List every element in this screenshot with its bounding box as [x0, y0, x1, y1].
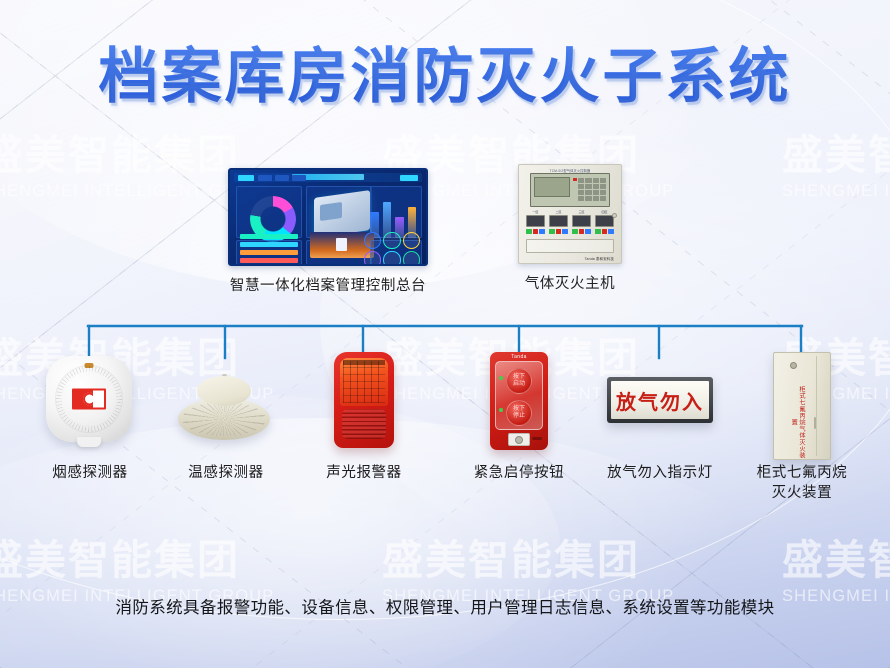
console-tab [275, 175, 289, 181]
panel-key[interactable] [585, 178, 591, 183]
gas-control-panel-item[interactable]: TCM-0/2型气体灭火控制器 一区二区三区四区 Tanda 泰和安科技 气体灭… [470, 164, 670, 293]
device-smoke-detector[interactable]: 烟感探测器 [46, 352, 134, 484]
panel-zone-buttons [526, 229, 545, 234]
panel-key[interactable] [578, 178, 584, 183]
start-button[interactable]: 按下 启动 [506, 368, 532, 394]
console-status-icon [364, 232, 381, 249]
panel-zone-display [572, 215, 591, 227]
watermark-cn: 盛美智能集团 [782, 540, 890, 581]
panel-zone-display [595, 215, 614, 227]
cabinet-extinguisher-image: 柜式七氟丙烷气体灭火装置 [773, 352, 831, 460]
panel-key[interactable] [585, 184, 591, 189]
console-status-icon [403, 232, 420, 249]
label-white-area [93, 391, 104, 408]
panel-key[interactable] [578, 190, 584, 195]
panel-zone-button[interactable] [562, 229, 568, 234]
panel-key[interactable] [600, 178, 606, 183]
panel-zone[interactable]: 一区 [526, 211, 545, 241]
panel-key[interactable] [593, 178, 599, 183]
sign-face: 放气勿入 [611, 381, 709, 419]
status-led [573, 178, 577, 181]
device-sound-light-alarm[interactable]: 声光报警器 [320, 352, 408, 484]
detector-label [72, 389, 106, 410]
watermark-cn: 盛美智能集团 [382, 540, 674, 581]
console-wave [240, 234, 298, 239]
console-wave [240, 250, 298, 255]
panel-zone-label: 一区 [526, 211, 545, 214]
console-status-icon [364, 251, 381, 266]
lock-icon [515, 436, 523, 444]
panel-zone-label: 四区 [595, 211, 614, 214]
device-label: 烟感探测器 [46, 464, 134, 484]
panel-zone-button[interactable] [526, 229, 532, 234]
footer-note-wrapper: 消防系统具备报警功能、设备信息、权限管理、用户管理日志信息、系统设置等功能模块 [0, 593, 890, 624]
status-led [499, 376, 503, 380]
console-tab [292, 175, 306, 181]
panel-key[interactable] [593, 184, 599, 189]
page-title: 档案库房消防灭火子系统 [99, 44, 792, 110]
panel-zone-buttons [595, 229, 614, 234]
gas-panel-caption: 气体灭火主机 [470, 272, 670, 293]
key-lock[interactable] [508, 433, 530, 446]
panel-key[interactable] [585, 190, 591, 195]
detector-mount-tab [77, 437, 101, 447]
console-tab [400, 175, 418, 181]
emergency-button-image: Tanda 按下 启动 按下 停止 [490, 352, 548, 450]
console-status-icon [383, 251, 400, 266]
console-status-icon [403, 251, 420, 266]
panel-zone-button[interactable] [602, 229, 608, 234]
device-emergency-button[interactable]: Tanda 按下 启动 按下 停止 紧急启停按钮 [470, 352, 568, 484]
device-brand: Tanda [490, 354, 548, 360]
start-label-2: 启动 [513, 381, 525, 388]
panel-zone-button[interactable] [595, 229, 601, 234]
device-cabinet-extinguisher[interactable]: 柜式七氟丙烷气体灭火装置 柜式七氟丙烷灭火装置 [752, 352, 852, 503]
console-3d-model [314, 190, 370, 238]
panel-zone-buttons [549, 229, 568, 234]
detector-ribs [182, 402, 266, 436]
panel-key[interactable] [585, 196, 591, 201]
alarm-strobe-lens [340, 358, 388, 406]
control-panel-keypad[interactable] [578, 178, 606, 204]
panel-zone-button[interactable] [533, 229, 539, 234]
console-caption: 智慧一体化档案管理控制总台 [178, 274, 478, 295]
panel-zone-buttons [572, 229, 591, 234]
panel-zone-button[interactable] [549, 229, 555, 234]
sign-text: 放气勿入 [616, 386, 704, 415]
console-status-icon [383, 232, 400, 249]
panel-key[interactable] [593, 190, 599, 195]
console-tab [238, 175, 254, 181]
panel-zone-display [526, 215, 545, 227]
console-screen [230, 170, 426, 264]
panel-knob[interactable] [612, 213, 617, 218]
stop-label-2: 停止 [513, 413, 525, 420]
panel-key[interactable] [578, 184, 584, 189]
device-label: 柜式七氟丙烷灭火装置 [752, 464, 852, 503]
console-monitor-image [228, 168, 428, 266]
console-monitor-item[interactable]: 智慧一体化档案管理控制总台 [178, 168, 478, 295]
device-label: 放气勿入指示灯 [600, 464, 720, 484]
watermark-cn: 盛美智能集团 [0, 540, 274, 581]
panel-zone-button[interactable] [556, 229, 562, 234]
control-panel-zones: 一区二区三区四区 [526, 211, 614, 241]
console-wave [240, 258, 298, 263]
smoke-detector-image [46, 356, 132, 442]
control-panel-brand: Tanda 泰和安科技 [585, 256, 614, 261]
cabinet-handle [814, 417, 816, 429]
detector-cap [197, 376, 251, 406]
device-heat-detector[interactable]: 温感探测器 [178, 352, 274, 484]
panel-key[interactable] [578, 196, 584, 201]
panel-zone-display [549, 215, 568, 227]
panel-key[interactable] [600, 190, 606, 195]
console-wave [240, 242, 298, 247]
panel-zone-button[interactable] [585, 229, 591, 234]
panel-zone[interactable]: 三区 [572, 211, 591, 241]
console-wave-chart [240, 234, 298, 258]
stop-button[interactable]: 按下 停止 [506, 400, 532, 426]
page-title-wrapper: 档案库房消防灭火子系统 [0, 44, 890, 110]
device-label: 声光报警器 [320, 464, 408, 484]
control-panel-display [534, 177, 570, 197]
panel-key[interactable] [593, 196, 599, 201]
sound-light-alarm-image [334, 352, 394, 448]
device-label: 紧急启停按钮 [470, 464, 568, 484]
panel-key[interactable] [600, 184, 606, 189]
start-label-1: 按下 [513, 374, 525, 381]
top-equipment-row: 智慧一体化档案管理控制总台 TCM-0/2型气体灭火控制器 一区二区三区四区 T… [0, 168, 890, 298]
gas-control-panel-image: TCM-0/2型气体灭火控制器 一区二区三区四区 Tanda 泰和安科技 [518, 164, 622, 264]
status-led [499, 408, 503, 412]
control-panel-warning-plate [526, 239, 614, 253]
stop-label-1: 按下 [513, 406, 525, 413]
panel-zone-label: 二区 [549, 211, 568, 214]
console-status-icons [364, 232, 420, 260]
mounting-slot [532, 437, 542, 440]
panel-zone-button[interactable] [608, 229, 614, 234]
panel-zone-button[interactable] [572, 229, 578, 234]
alarm-speaker-grille [342, 409, 386, 439]
cabinet-label-text: 柜式七氟丙烷气体灭火装置 [793, 386, 805, 459]
panel-zone[interactable]: 二区 [549, 211, 568, 241]
console-tab [258, 175, 272, 181]
device-gas-indicator[interactable]: 放气勿入 放气勿入指示灯 [600, 352, 720, 484]
device-row: 烟感探测器 温感探测器 声光报警器 [0, 352, 890, 522]
heat-detector-image [178, 374, 270, 440]
panel-key[interactable] [600, 196, 606, 201]
device-label: 温感探测器 [178, 464, 274, 484]
panel-zone-button[interactable] [539, 229, 545, 234]
panel-zone-button[interactable] [579, 229, 585, 234]
panel-zone-label: 三区 [572, 211, 591, 214]
lens-grid [343, 361, 385, 403]
control-panel-lcd [530, 173, 610, 207]
gas-indicator-image: 放气勿入 [607, 377, 713, 423]
cabinet-lock-icon [790, 362, 797, 369]
footer-note: 消防系统具备报警功能、设备信息、权限管理、用户管理日志信息、系统设置等功能模块 [115, 593, 775, 624]
